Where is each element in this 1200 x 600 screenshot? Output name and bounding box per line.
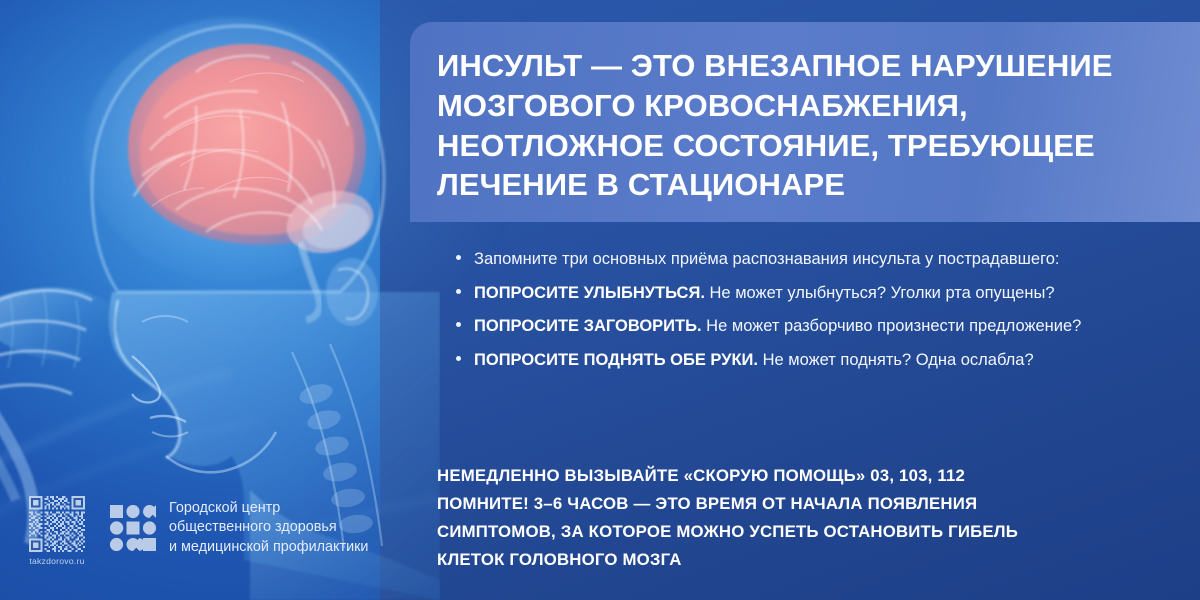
center-logo-icon <box>110 505 156 551</box>
headline-line-2: мозгового кровоснабжения, <box>437 86 1177 126</box>
org-name-line-3: и медицинской профилактики <box>169 538 368 557</box>
page-title: Инсульт — это внезапное нарушение мозгов… <box>437 46 1177 205</box>
list-item: ПОПРОСИТЕ УЛЫБНУТЬСЯ. Не может улыбнутьс… <box>452 280 1172 307</box>
cta-line-2: Помните! 3–6 часов — это время от начала… <box>437 490 1177 518</box>
list-item: ПОПРОСИТЕ ЗАГОВОРИТЬ. Не может разборчив… <box>452 313 1172 340</box>
poster-canvas: Инсульт — это внезапное нарушение мозгов… <box>0 0 1200 600</box>
bullet-lead: ПОПРОСИТЕ ПОДНЯТЬ ОБЕ РУКИ. <box>474 351 758 369</box>
list-item: ПОПРОСИТЕ ПОДНЯТЬ ОБЕ РУКИ. Не может под… <box>452 347 1172 374</box>
org-name-line-2: общественного здоровья <box>169 518 368 537</box>
cta-line-1: Немедленно вызывайте «скорую помощь» 03,… <box>437 462 1177 490</box>
headline-line-4: лечение в стационаре <box>437 165 1177 205</box>
bullet-text: Не может поднять? Одна ослабла? <box>763 351 1034 369</box>
organization-logo-block: Городской центр общественного здоровья и… <box>110 499 368 557</box>
bullet-lead: ПОПРОСИТЕ ЗАГОВОРИТЬ. <box>474 317 702 335</box>
bullet-text: Не может разборчиво произнести предложен… <box>706 317 1081 335</box>
organization-name: Городской центр общественного здоровья и… <box>169 499 368 557</box>
cta-line-4: клеток головного мозга <box>437 546 1177 574</box>
headline-line-3: неотложное состояние, требующее <box>437 126 1177 166</box>
qr-code-icon <box>29 496 85 552</box>
qr-block: takzdorovo.ru <box>26 496 88 566</box>
headline-line-1: Инсульт — это внезапное нарушение <box>437 46 1177 86</box>
org-name-line-1: Городской центр <box>169 499 368 518</box>
footer: takzdorovo.ru <box>26 496 368 566</box>
bullet-lead: ПОПРОСИТЕ УЛЫБНУТЬСЯ. <box>474 284 705 302</box>
list-item: Запомните три основных приёма распознава… <box>452 246 1172 273</box>
bullet-text: Запомните три основных приёма распознава… <box>474 250 1060 268</box>
qr-caption: takzdorovo.ru <box>29 556 84 566</box>
emergency-call-to-action: Немедленно вызывайте «скорую помощь» 03,… <box>437 462 1177 574</box>
bullet-text: Не может улыбнуться? Уголки рта опущены? <box>710 284 1055 302</box>
cta-line-3: симптомов, за которое можно успеть остан… <box>437 518 1177 546</box>
recognition-steps-list: Запомните три основных приёма распознава… <box>452 246 1172 381</box>
